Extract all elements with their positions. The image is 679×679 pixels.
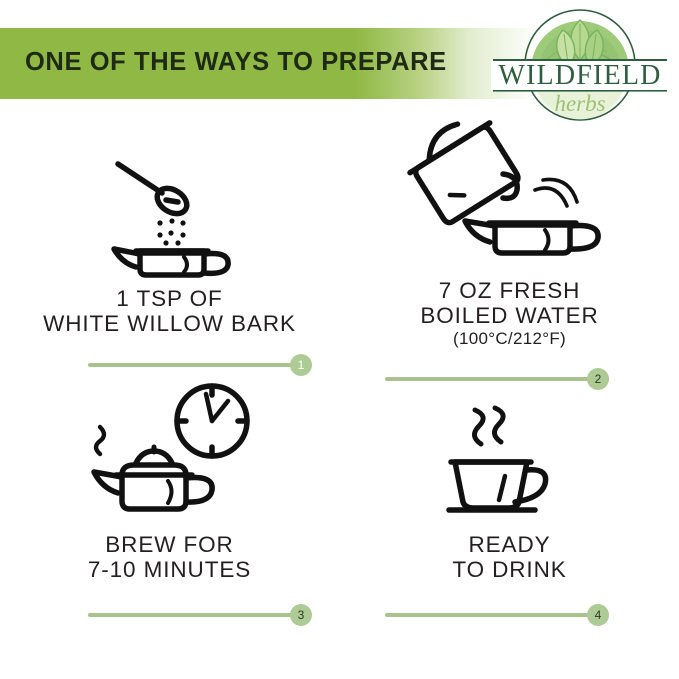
page-title: ONE OF THE WAYS TO PREPARE: [25, 48, 447, 77]
step-1-number-badge: 1: [290, 354, 312, 376]
step-1: 1 TSP OF WHITE WILLOW BARK 1: [0, 138, 339, 336]
step-4-rule-line: [385, 613, 589, 617]
step-4: READY TO DRINK 4: [340, 384, 679, 582]
logo-tagline-text: herbs: [554, 91, 605, 116]
step-4-rule: 4: [385, 604, 609, 626]
falling-granules: [157, 218, 185, 245]
step-2: 7 OZ FRESH BOILED WATER (100°C/212°F) 2: [340, 130, 679, 350]
step-4-caption-line-2: TO DRINK: [340, 557, 679, 582]
teapot-with-clock-icon: [0, 384, 339, 524]
step-1-caption-line-2: WHITE WILLOW BARK: [0, 311, 339, 336]
step-2-caption-sub: (100°C/212°F): [340, 328, 679, 350]
step-2-caption: 7 OZ FRESH BOILED WATER (100°C/212°F): [340, 278, 679, 350]
step-2-caption-line-1: 7 OZ FRESH: [340, 278, 679, 303]
brand-logo: WILDFIELD herbs: [487, 4, 673, 126]
step-3: BREW FOR 7-10 MINUTES 3: [0, 384, 339, 582]
step-1-rule: 1: [88, 354, 312, 376]
kettle-pouring-into-teapot-icon: [340, 130, 679, 270]
steaming-teacup-icon: [340, 384, 679, 524]
step-3-caption: BREW FOR 7-10 MINUTES: [0, 532, 339, 582]
step-3-rule: 3: [88, 604, 312, 626]
step-4-caption-line-1: READY: [340, 532, 679, 557]
preparation-steps: 1 TSP OF WHITE WILLOW BARK 1: [0, 130, 679, 679]
step-1-rule-line: [88, 363, 292, 367]
step-3-caption-line-2: 7-10 MINUTES: [0, 557, 339, 582]
step-2-caption-line-2: BOILED WATER: [340, 303, 679, 328]
step-3-caption-line-1: BREW FOR: [0, 532, 339, 557]
step-3-number-badge: 3: [290, 604, 312, 626]
logo-brand-text: WILDFIELD: [498, 60, 661, 91]
step-3-rule-line: [88, 613, 292, 617]
step-2-rule-line: [385, 377, 589, 381]
teaspoon-pouring-into-teapot-icon: [0, 138, 339, 278]
page-header: ONE OF THE WAYS TO PREPARE: [0, 0, 679, 130]
step-1-caption-line-1: 1 TSP OF: [0, 286, 339, 311]
step-4-caption: READY TO DRINK: [340, 532, 679, 582]
step-4-number-badge: 4: [587, 604, 609, 626]
step-1-caption: 1 TSP OF WHITE WILLOW BARK: [0, 286, 339, 336]
